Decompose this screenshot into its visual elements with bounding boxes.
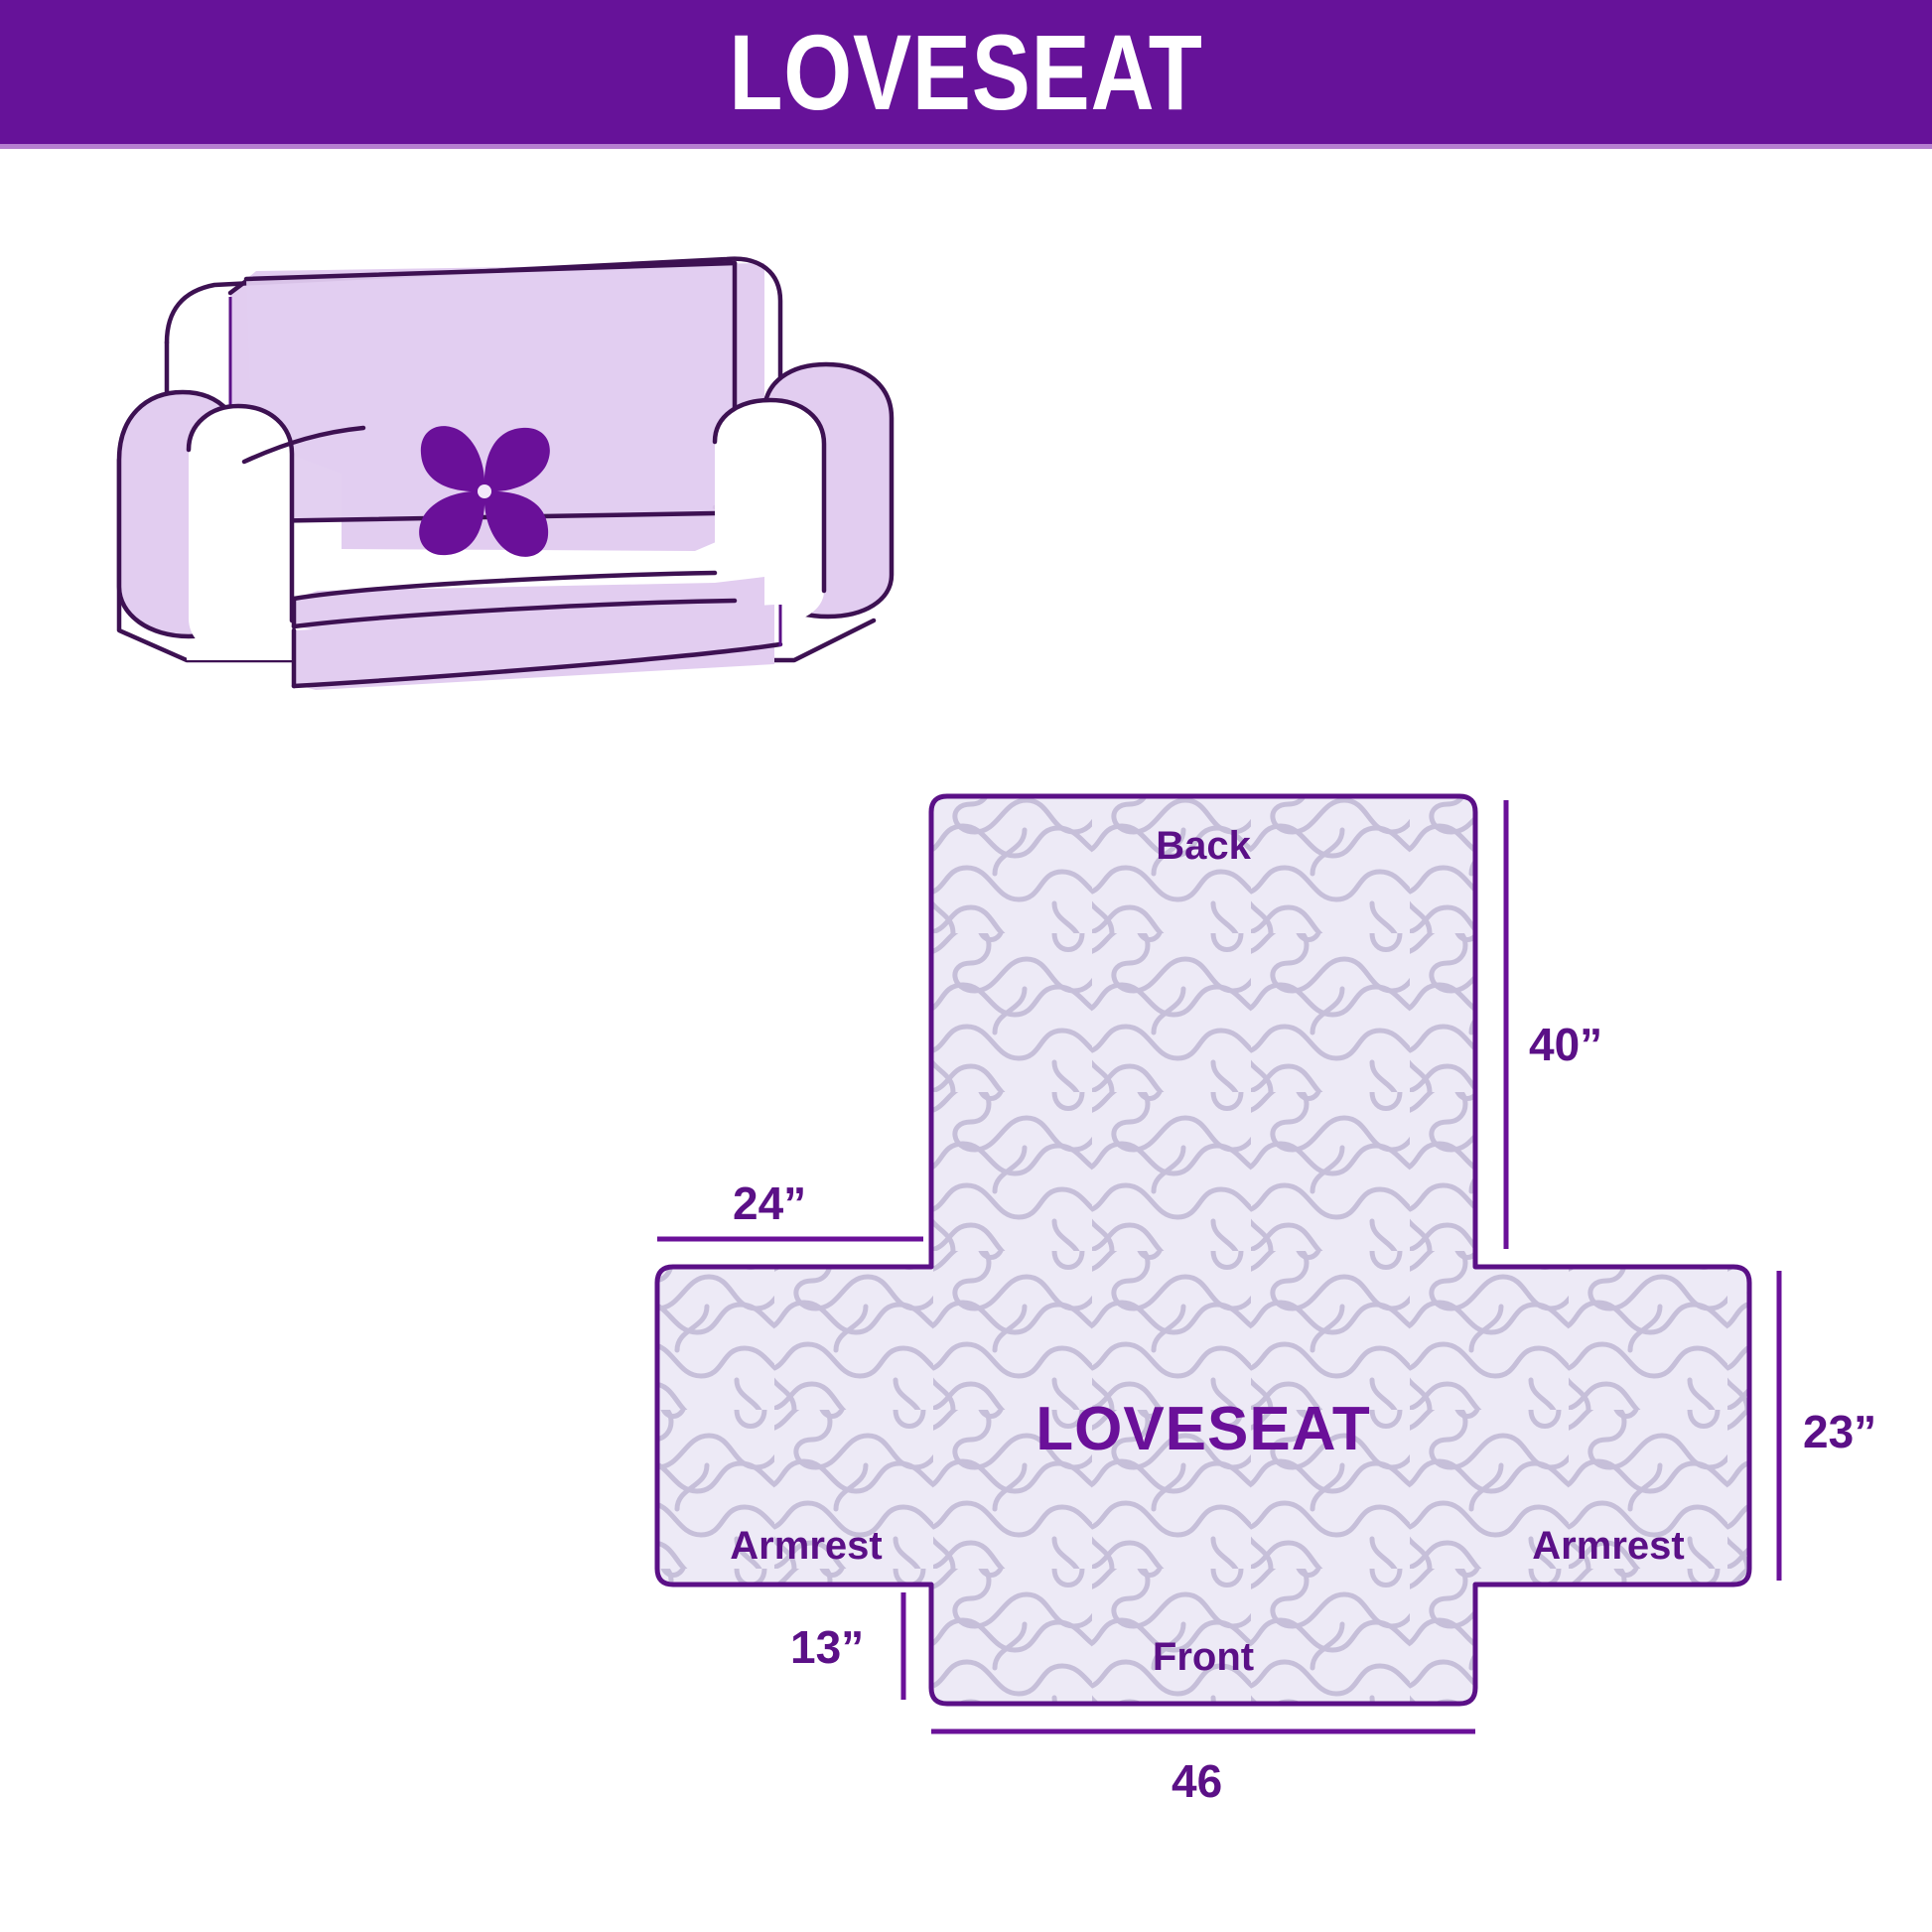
cover-layout-diagram: Back LOVESEAT Armrest Armrest Front 40” …: [616, 774, 1932, 1866]
dimension-label-back-height: 40”: [1529, 1019, 1602, 1070]
center-label-loveseat: LOVESEAT: [1035, 1395, 1371, 1463]
dimension-label-armrest-depth: 23”: [1803, 1406, 1876, 1457]
dimension-label-back-width: 24”: [733, 1177, 806, 1229]
header-banner: LOVESEAT: [0, 0, 1932, 144]
header-underline-divider: [0, 144, 1932, 149]
panel-label-front: Front: [1153, 1635, 1254, 1679]
page-title: LOVESEAT: [729, 19, 1202, 126]
panel-label-armrest-left: Armrest: [730, 1524, 882, 1568]
panel-label-back: Back: [1156, 824, 1251, 868]
dimension-label-front-height: 13”: [790, 1621, 864, 1673]
dimension-label-front-width: 46: [1172, 1755, 1222, 1807]
panel-label-armrest-right: Armrest: [1532, 1524, 1684, 1568]
loveseat-illustration: .so { fill:none; stroke:#3d1152; stroke-…: [79, 194, 953, 700]
product-dimension-infographic: LOVESEAT .so { fill:none; stroke:#3d1152…: [0, 0, 1932, 1932]
